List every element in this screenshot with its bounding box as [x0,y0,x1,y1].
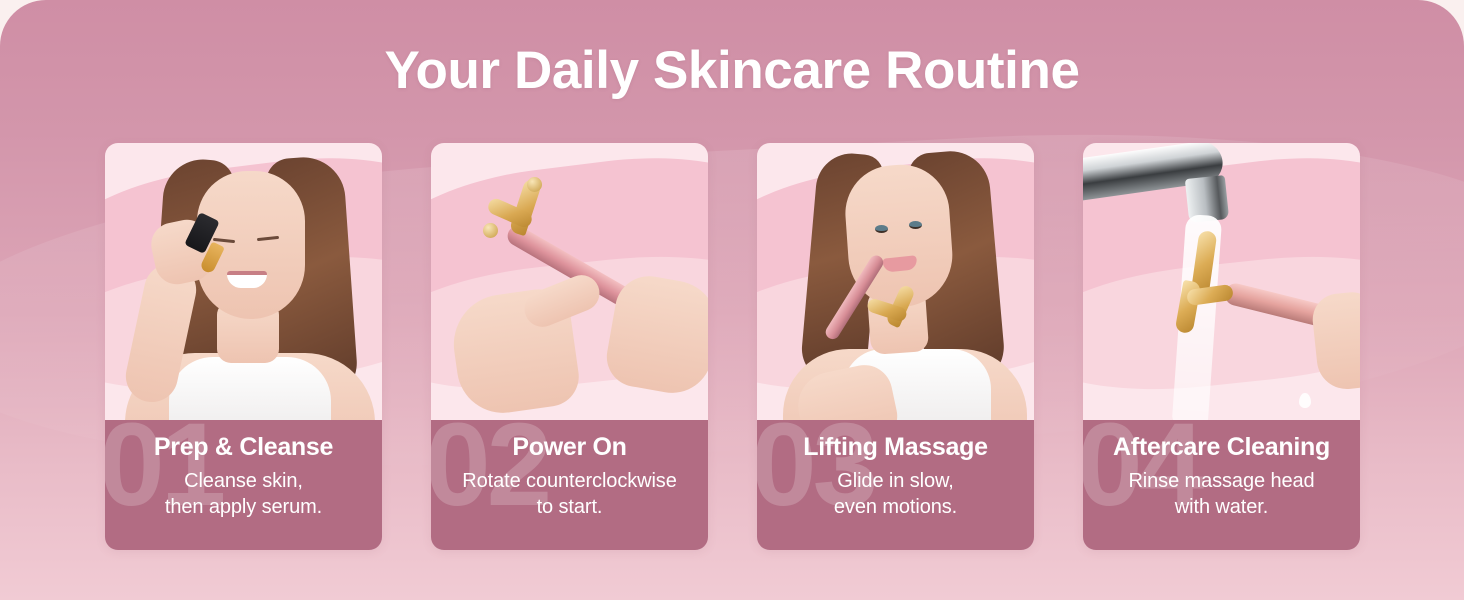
step-3-photo [757,143,1034,420]
step-2-caption: 02 Power On Rotate counterclockwise to s… [431,420,708,550]
step-heading: Lifting Massage [767,434,1024,461]
step-description: Rinse massage head with water. [1093,468,1350,520]
smiling-mouth [227,271,267,288]
step-4-caption: 04 Aftercare Cleaning Rinse massage head… [1083,420,1360,550]
hand [1310,290,1360,392]
page-title: Your Daily Skincare Routine [0,40,1464,101]
step-1-caption: 01 Prep & Cleanse Cleanse skin, then app… [105,420,382,550]
step-description: Cleanse skin, then apply serum. [115,468,372,520]
wand-massage-head [1167,231,1243,335]
step-heading: Aftercare Cleaning [1093,434,1350,461]
wand-massage-head [483,179,557,241]
step-heading: Prep & Cleanse [115,434,372,461]
skincare-routine-banner: Your Daily Skincare Routine [0,0,1464,600]
step-card-1[interactable]: 01 Prep & Cleanse Cleanse skin, then app… [105,143,382,550]
step-description: Glide in slow, even motions. [767,468,1024,520]
step-card-4[interactable]: 04 Aftercare Cleaning Rinse massage head… [1083,143,1360,550]
serum-application-illustration [105,143,382,420]
steps-card-row: 01 Prep & Cleanse Cleanse skin, then app… [105,143,1360,550]
step-4-photo [1083,143,1360,420]
step-2-photo [431,143,708,420]
eye-left [875,225,888,233]
jawline-massage-illustration [757,143,1034,420]
step-card-2[interactable]: 02 Power On Rotate counterclockwise to s… [431,143,708,550]
water-droplet [1299,393,1311,408]
faucet-rinse-illustration [1083,143,1360,420]
step-description: Rotate counterclockwise to start. [441,468,698,520]
step-card-3[interactable]: 03 Lifting Massage Glide in slow, even m… [757,143,1034,550]
beauty-wand-illustration [431,143,708,420]
wand-massage-head [865,285,927,331]
prong-tip-lower [483,223,498,238]
step-heading: Power On [441,434,698,461]
tank-top [169,357,331,420]
step-1-photo [105,143,382,420]
step-3-caption: 03 Lifting Massage Glide in slow, even m… [757,420,1034,550]
prong-tip-upper [527,177,542,192]
eye-right [909,221,922,229]
